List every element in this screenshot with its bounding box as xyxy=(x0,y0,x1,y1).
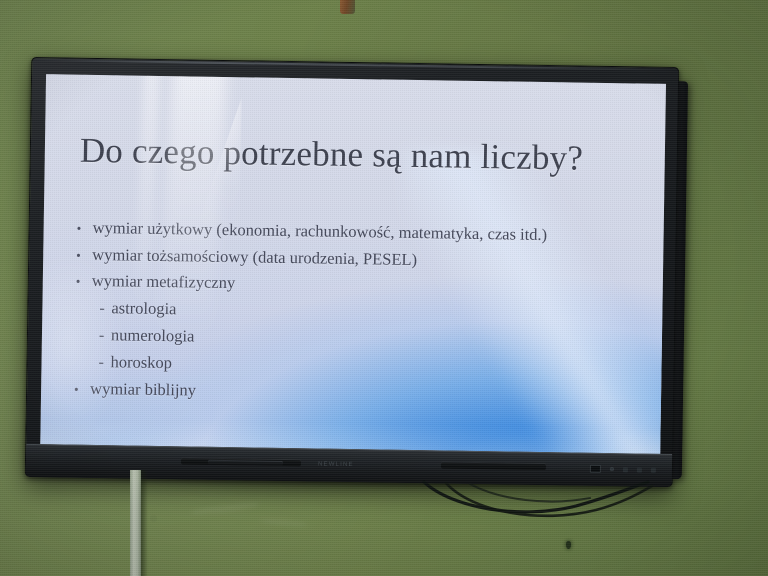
wall-conduit xyxy=(130,470,141,576)
power-button[interactable] xyxy=(651,467,656,472)
list-item-label: horoskop xyxy=(110,354,172,371)
display-bezel: Do czego potrzebne są nam liczby? • wymi… xyxy=(25,57,680,487)
bullet-marker-icon: • xyxy=(76,248,92,261)
speaker-grille-right xyxy=(441,461,546,470)
bullet-marker-icon: • xyxy=(76,275,92,288)
list-item-label: numerologia xyxy=(111,327,195,345)
menu-button[interactable] xyxy=(623,467,628,472)
bullet-marker-icon: • xyxy=(77,222,93,235)
list-item-label: wymiar użytkowy (ekonomia, rachunkowość,… xyxy=(93,220,548,244)
speaker-grille-left xyxy=(208,460,283,466)
slide-title: Do czego potrzebne są nam liczby? xyxy=(80,133,584,176)
brand-logo: NEWLINE xyxy=(318,461,354,468)
power-led-icon xyxy=(610,467,614,471)
bullet-marker-icon: - xyxy=(99,328,111,344)
list-item-label: wymiar metafizyczny xyxy=(92,273,236,292)
display-screen[interactable]: Do czego potrzebne są nam liczby? • wymi… xyxy=(40,74,666,454)
ir-receiver-icon xyxy=(590,465,601,473)
control-panel[interactable] xyxy=(590,465,656,474)
bullet-marker-icon: - xyxy=(98,355,110,371)
slide-content: Do czego potrzebne są nam liczby? • wymi… xyxy=(40,74,666,454)
bullet-marker-icon: • xyxy=(74,382,90,395)
ceiling-fixture xyxy=(340,0,355,14)
input-button[interactable] xyxy=(637,467,642,472)
list-item-label: wymiar tożsamościowy (data urodzenia, PE… xyxy=(92,246,417,268)
interactive-display[interactable]: Do czego potrzebne są nam liczby? • wymi… xyxy=(25,57,680,487)
wall-conduit-shadow xyxy=(141,470,148,576)
wall-blemish xyxy=(566,541,571,549)
bullet-marker-icon: - xyxy=(99,301,111,317)
classroom-scene: Do czego potrzebne są nam liczby? • wymi… xyxy=(0,0,768,576)
list-item-label: astrologia xyxy=(111,300,176,318)
list-item-label: wymiar biblijny xyxy=(90,380,196,398)
slide-bullet-list: • wymiar użytkowy (ekonomia, rachunkowoś… xyxy=(74,220,637,416)
presentation-slide: Do czego potrzebne są nam liczby? • wymi… xyxy=(40,74,666,454)
